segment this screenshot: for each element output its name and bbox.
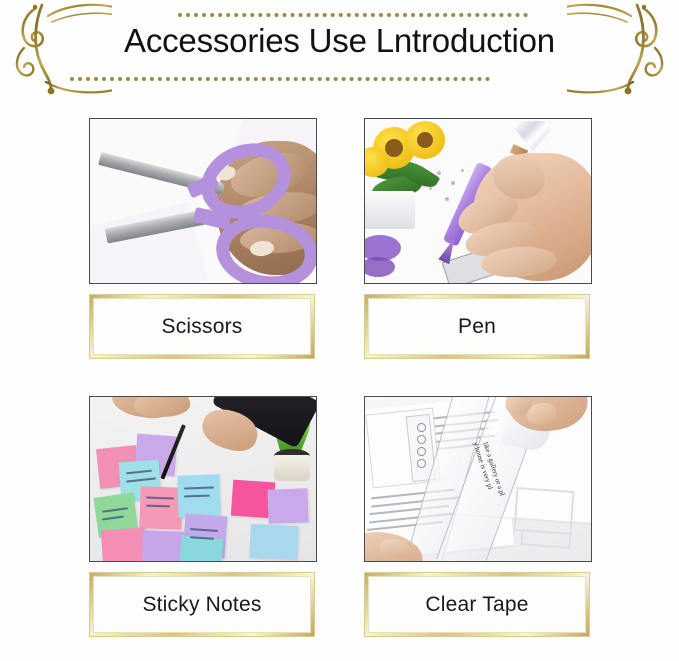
- label-plaque-clear-tape: Clear Tape: [364, 572, 590, 637]
- product-card-pen[interactable]: Pen: [364, 118, 592, 359]
- page-header: Accessories Use Lntroduction: [0, 0, 679, 104]
- label-text-clear-tape: Clear Tape: [425, 593, 528, 617]
- label-plaque-pen: Pen: [364, 294, 590, 359]
- clear-tape-photo: y house is very pl like a gallery or a p…: [364, 396, 592, 562]
- product-card-clear-tape[interactable]: y house is very pl like a gallery or a p…: [364, 396, 592, 637]
- pen-photo: [364, 118, 592, 284]
- product-grid: Scissors: [0, 104, 679, 661]
- product-card-sticky-notes[interactable]: Sticky Notes: [89, 396, 317, 637]
- label-plaque-sticky-notes: Sticky Notes: [89, 572, 315, 637]
- label-text-scissors: Scissors: [162, 315, 243, 339]
- scissors-photo: [89, 118, 317, 284]
- divider-dotted-bottom: [70, 77, 490, 81]
- label-plaque-scissors: Scissors: [89, 294, 315, 359]
- label-text-pen: Pen: [458, 315, 496, 339]
- product-card-scissors[interactable]: Scissors: [89, 118, 317, 359]
- label-text-sticky-notes: Sticky Notes: [142, 593, 261, 617]
- ornament-flourish-right: [567, 0, 677, 104]
- divider-dotted-top: [178, 13, 528, 17]
- sticky-notes-photo: [89, 396, 317, 562]
